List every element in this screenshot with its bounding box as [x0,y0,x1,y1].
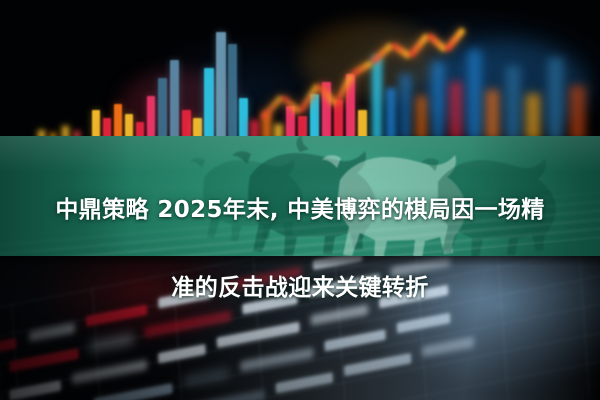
page-title-line-1: 中鼎策略 2025年末, 中美博弈的棋局因一场精 [0,191,600,230]
candlestick-bar-chart [0,0,600,140]
page-title-line-2: 准的反击战迎来关键转折 [0,269,600,308]
ticker-row [93,383,172,400]
ticker-row [240,348,313,372]
trend-line-segment [390,41,412,59]
price-trend-line [0,0,600,140]
ticker-row [72,360,147,385]
trend-line-segment [443,26,466,52]
ticker-row [184,368,230,387]
ticker-row [344,353,411,376]
trend-line-segment [350,59,374,77]
page-title: 中鼎策略 2025年末, 中美博弈的棋局因一场精 准的反击战迎来关键转折 [0,152,600,347]
ticker-row [158,344,206,363]
ticker-row [9,348,78,371]
trend-line-segment [333,72,355,105]
article-thumbnail: 中鼎策略 2025年末, 中美博弈的棋局因一场精 准的反击战迎来关键转折 [0,0,600,400]
ticker-row [180,390,265,400]
